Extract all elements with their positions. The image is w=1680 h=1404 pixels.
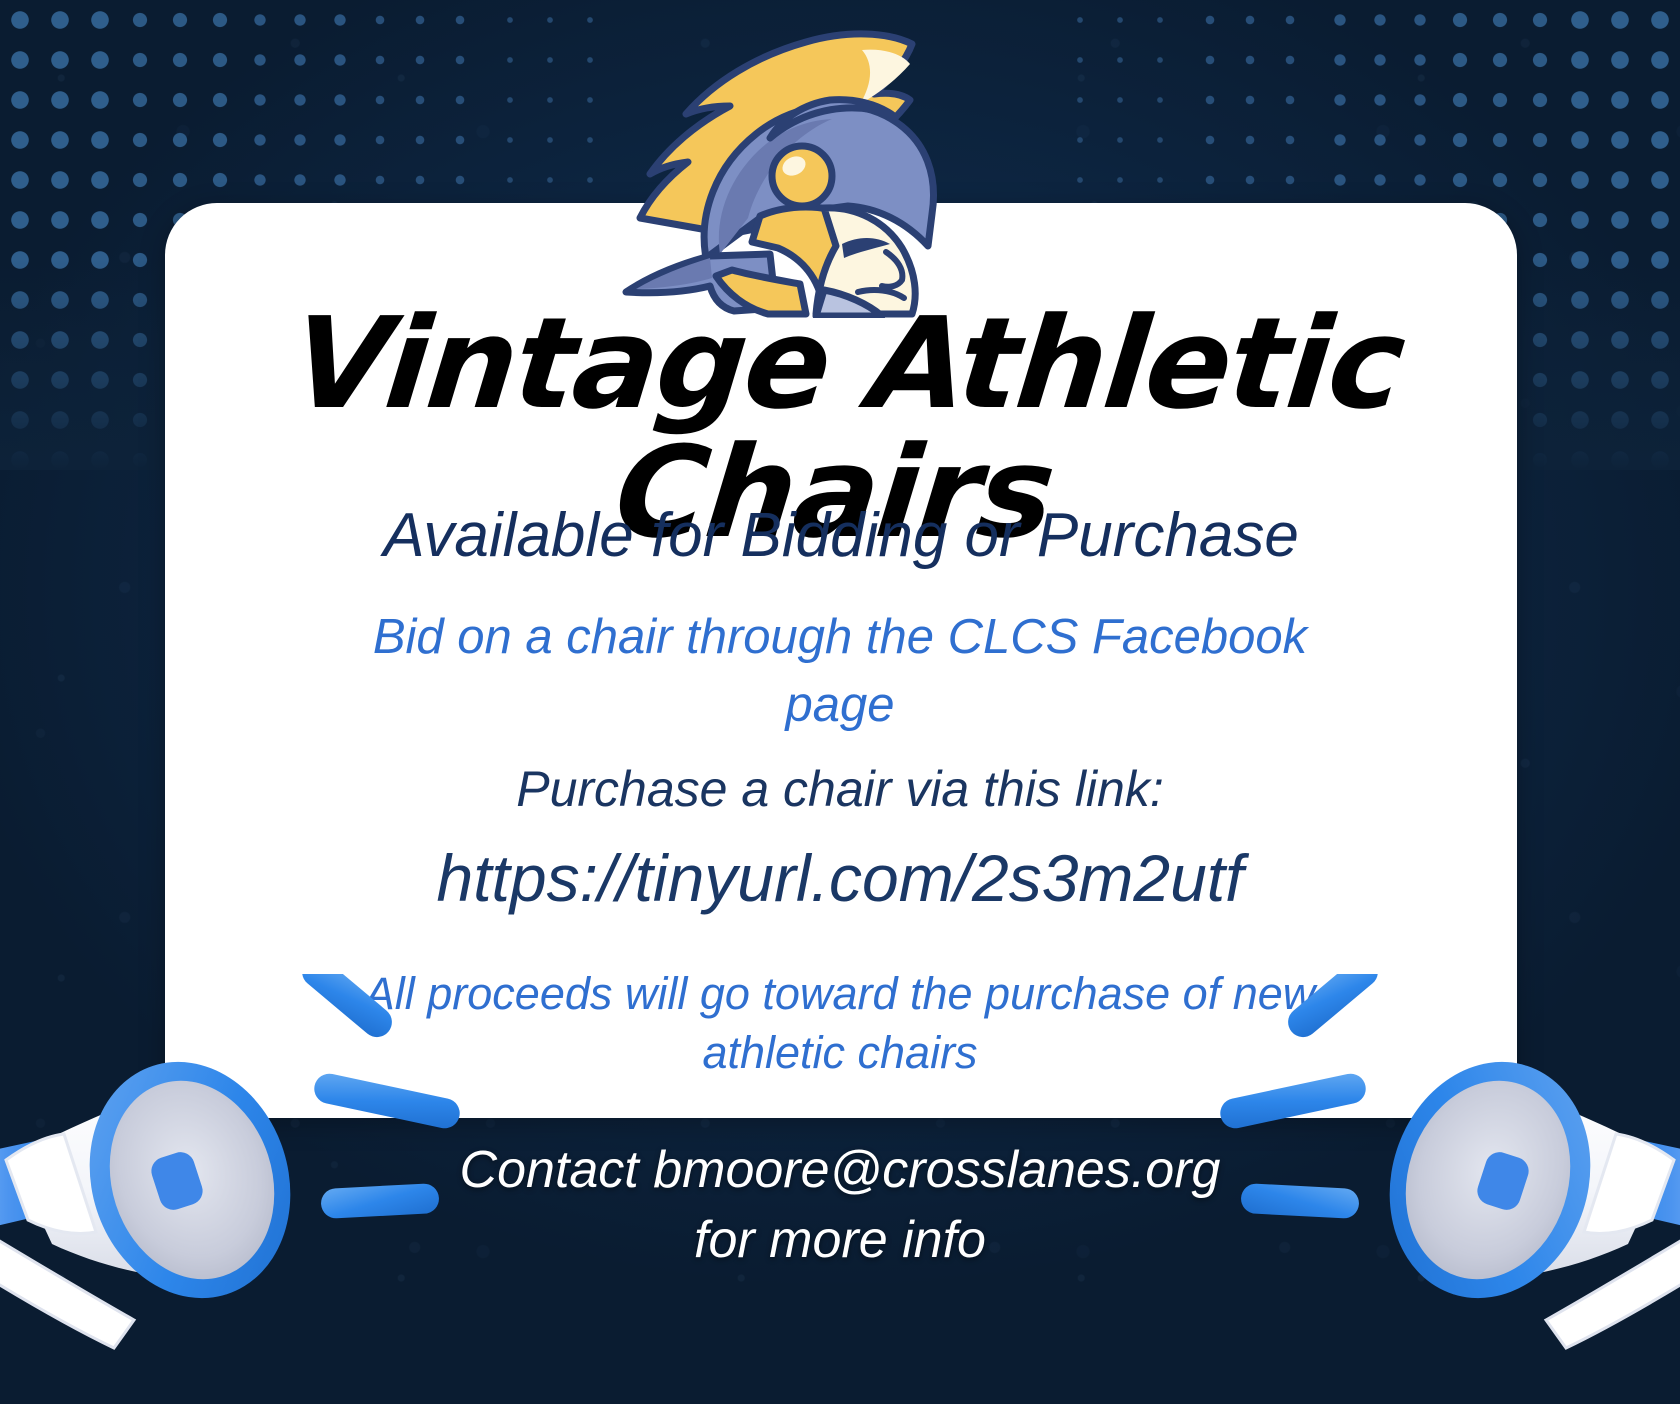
contact-block: Contact bmoore@crosslanes.org for more i… xyxy=(300,1135,1380,1275)
subtitle: Available for Bidding or Purchase xyxy=(165,502,1517,570)
spartan-helmet-logo xyxy=(610,8,950,318)
proceeds-note: All proceeds will go toward the purchase… xyxy=(300,965,1380,1082)
bid-instruction: Bid on a chair through the CLCS Facebook… xyxy=(330,604,1350,739)
contact-email-line[interactable]: Contact bmoore@crosslanes.org xyxy=(300,1135,1380,1205)
contact-suffix-line: for more info xyxy=(300,1205,1380,1275)
poster-canvas: Vintage Athletic Chairs Available for Bi… xyxy=(0,0,1680,1404)
purchase-instruction: Purchase a chair via this link: xyxy=(330,760,1350,818)
purchase-url-link[interactable]: https://tinyurl.com/2s3m2utf xyxy=(265,840,1415,916)
